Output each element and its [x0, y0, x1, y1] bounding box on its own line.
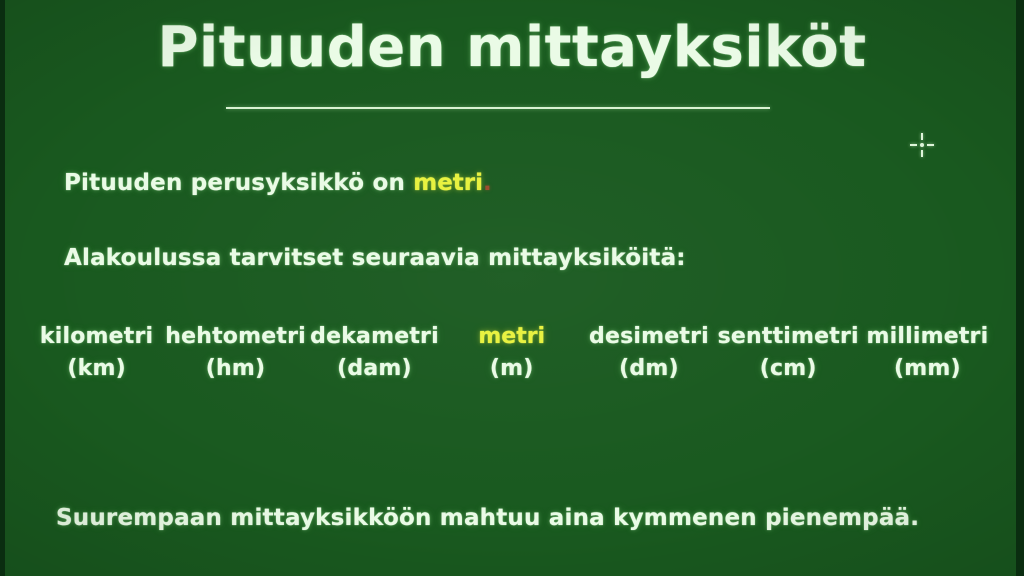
- intro-highlight-metri: metri: [413, 170, 483, 196]
- unit-cell-senttimetri: senttimetri (cm): [718, 322, 859, 383]
- title-block: Pituuden mittayksiköt: [0, 18, 1024, 78]
- unit-abbr: (m): [443, 354, 580, 383]
- unit-cell-hehtometri: hehtometri (hm): [165, 322, 306, 383]
- unit-row: kilometri (km) hehtometri (hm) dekametri…: [28, 322, 996, 383]
- unit-name: kilometri: [28, 322, 165, 351]
- crosshair-tick-right: [927, 144, 934, 146]
- unit-name: senttimetri: [718, 322, 859, 351]
- crosshair-tick-left: [910, 144, 917, 146]
- crosshair-center-dot: [920, 143, 924, 147]
- slide-canvas: Pituuden mittayksiköt Pituuden perusyksi…: [0, 0, 1024, 576]
- unit-abbr: (hm): [165, 354, 306, 383]
- unit-abbr: (km): [28, 354, 165, 383]
- intro-prefix: Pituuden perusyksikkö on: [64, 170, 413, 196]
- crosshair-icon: [910, 133, 934, 157]
- needed-units-sentence: Alakoulussa tarvitset seuraavia mittayks…: [64, 245, 686, 271]
- unit-abbr: (cm): [718, 354, 859, 383]
- crosshair-tick-bottom: [921, 150, 923, 157]
- unit-abbr: (mm): [859, 354, 996, 383]
- unit-cell-dekametri: dekametri (dam): [306, 322, 443, 383]
- unit-cell-millimetri: millimetri (mm): [859, 322, 996, 383]
- crosshair-tick-top: [921, 133, 923, 140]
- footer-sentence: Suurempaan mittayksikköön mahtuu aina ky…: [56, 505, 919, 531]
- unit-cell-metri: metri (m): [443, 322, 580, 383]
- unit-name: millimetri: [859, 322, 996, 351]
- unit-abbr: (dam): [306, 354, 443, 383]
- unit-name-highlighted: metri: [443, 322, 580, 351]
- unit-name: desimetri: [580, 322, 717, 351]
- unit-abbr: (dm): [580, 354, 717, 383]
- title-underline: [226, 107, 770, 109]
- letterbox-bar-right: [1016, 0, 1024, 576]
- intro-period: .: [483, 170, 492, 196]
- vignette-overlay: [0, 0, 1024, 576]
- unit-cell-desimetri: desimetri (dm): [580, 322, 717, 383]
- unit-name: hehtometri: [165, 322, 306, 351]
- unit-cell-kilometri: kilometri (km): [28, 322, 165, 383]
- unit-name: dekametri: [306, 322, 443, 351]
- page-title: Pituuden mittayksiköt: [157, 18, 866, 78]
- intro-sentence: Pituuden perusyksikkö on metri.: [64, 170, 492, 196]
- letterbox-bar-left: [0, 0, 5, 576]
